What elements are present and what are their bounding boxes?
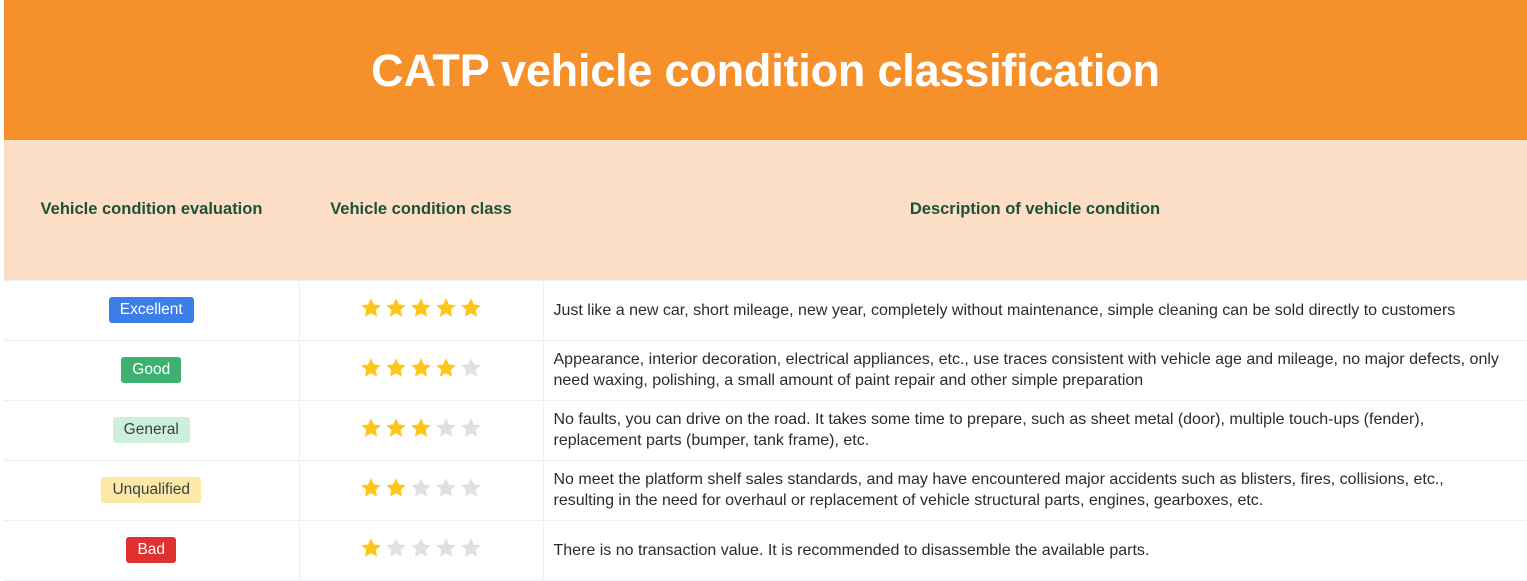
title-banner: CATP vehicle condition classification — [4, 0, 1527, 140]
cell-condition-class — [299, 400, 543, 460]
cell-description: No faults, you can drive on the road. It… — [543, 400, 1527, 460]
cell-description: No meet the platform shelf sales standar… — [543, 460, 1527, 520]
status-badge: Good — [121, 357, 181, 383]
star-filled-icon — [434, 356, 458, 380]
star-filled-icon — [359, 416, 383, 440]
vehicle-condition-table: Vehicle condition evaluation Vehicle con… — [4, 140, 1527, 581]
table-body: ExcellentJust like a new car, short mile… — [4, 280, 1527, 580]
cell-description: There is no transaction value. It is rec… — [543, 520, 1527, 580]
status-badge: Excellent — [109, 297, 194, 323]
star-empty-icon — [409, 476, 433, 500]
cell-description: Just like a new car, short mileage, new … — [543, 280, 1527, 340]
cell-condition-class — [299, 520, 543, 580]
star-filled-icon — [359, 476, 383, 500]
cell-description: Appearance, interior decoration, electri… — [543, 340, 1527, 400]
description-text: Appearance, interior decoration, electri… — [544, 341, 1527, 399]
star-filled-icon — [409, 296, 433, 320]
table-row: BadThere is no transaction value. It is … — [4, 520, 1527, 580]
table-row: UnqualifiedNo meet the platform shelf sa… — [4, 460, 1527, 520]
star-empty-icon — [459, 536, 483, 560]
table-row: ExcellentJust like a new car, short mile… — [4, 280, 1527, 340]
table-row: GeneralNo faults, you can drive on the r… — [4, 400, 1527, 460]
column-header-evaluation: Vehicle condition evaluation — [4, 140, 299, 280]
status-badge: Bad — [126, 537, 176, 563]
star-empty-icon — [459, 356, 483, 380]
star-rating — [359, 296, 483, 320]
column-header-description: Description of vehicle condition — [543, 140, 1527, 280]
star-filled-icon — [409, 356, 433, 380]
star-filled-icon — [359, 356, 383, 380]
star-filled-icon — [384, 356, 408, 380]
star-filled-icon — [409, 416, 433, 440]
column-header-class-label: Vehicle condition class — [299, 200, 543, 219]
column-header-evaluation-label: Vehicle condition evaluation — [4, 200, 299, 219]
cell-evaluation: Good — [4, 340, 299, 400]
star-empty-icon — [409, 536, 433, 560]
page-title: CATP vehicle condition classification — [371, 48, 1160, 93]
cell-evaluation: General — [4, 400, 299, 460]
star-rating — [359, 416, 483, 440]
star-empty-icon — [384, 536, 408, 560]
column-header-description-label: Description of vehicle condition — [543, 200, 1527, 219]
column-header-class: Vehicle condition class — [299, 140, 543, 280]
star-filled-icon — [359, 536, 383, 560]
description-text: No meet the platform shelf sales standar… — [544, 461, 1527, 519]
cell-condition-class — [299, 460, 543, 520]
status-badge: General — [113, 417, 190, 443]
table-header: Vehicle condition evaluation Vehicle con… — [4, 140, 1527, 280]
cell-condition-class — [299, 340, 543, 400]
description-text: Just like a new car, short mileage, new … — [544, 292, 1527, 329]
cell-evaluation: Unqualified — [4, 460, 299, 520]
star-empty-icon — [434, 416, 458, 440]
star-filled-icon — [384, 296, 408, 320]
status-badge: Unqualified — [101, 477, 201, 503]
table-header-row: Vehicle condition evaluation Vehicle con… — [4, 140, 1527, 280]
table-row: GoodAppearance, interior decoration, ele… — [4, 340, 1527, 400]
star-empty-icon — [434, 476, 458, 500]
description-text: No faults, you can drive on the road. It… — [544, 401, 1527, 459]
cell-evaluation: Excellent — [4, 280, 299, 340]
star-rating — [359, 536, 483, 560]
cell-condition-class — [299, 280, 543, 340]
star-filled-icon — [434, 296, 458, 320]
star-empty-icon — [459, 416, 483, 440]
vehicle-condition-classification-page: CATP vehicle condition classification Ve… — [0, 0, 1527, 579]
star-filled-icon — [384, 476, 408, 500]
cell-evaluation: Bad — [4, 520, 299, 580]
star-rating — [359, 356, 483, 380]
star-filled-icon — [459, 296, 483, 320]
star-empty-icon — [434, 536, 458, 560]
star-filled-icon — [359, 296, 383, 320]
star-rating — [359, 476, 483, 500]
star-filled-icon — [384, 416, 408, 440]
description-text: There is no transaction value. It is rec… — [544, 532, 1527, 569]
star-empty-icon — [459, 476, 483, 500]
